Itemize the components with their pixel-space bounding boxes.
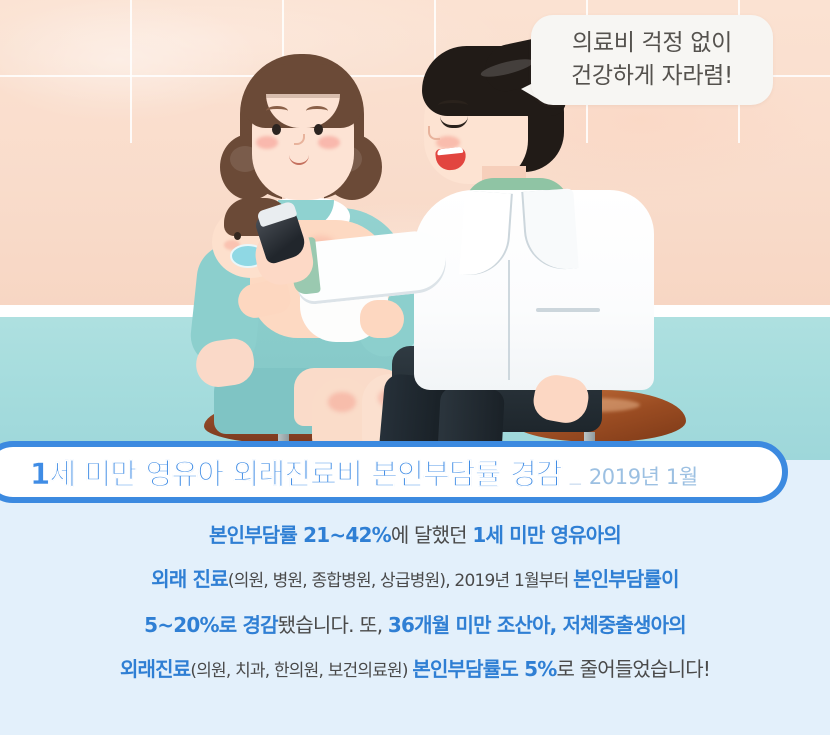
infographic-poster: 의료비 걱정 없이 건강하게 자라렴! 1세 미만 영유아 외래진료비 본인부담… xyxy=(0,0,830,735)
body-text-block: 본인부담률 21~42%에 달했던 1세 미만 영유아의 외래 진료(의원, 병… xyxy=(0,513,830,693)
speech-bubble: 의료비 걱정 없이 건강하게 자라렴! xyxy=(531,15,773,105)
mother-hair-front xyxy=(244,64,362,128)
title-date: 2019년 1월 xyxy=(589,461,698,491)
mother-kneecap-left xyxy=(328,392,356,412)
body-line-4-highlight-a: 외래진료 xyxy=(120,657,190,681)
body-line-2-highlight-a: 외래 진료 xyxy=(151,567,228,591)
baby-eye-left xyxy=(234,232,241,240)
title-banner-content: 1세 미만 영유아 외래진료비 본인부담률 경감 _ 2019년 1월 xyxy=(0,451,698,493)
body-line-1-plain-b: 에 달했던 xyxy=(391,523,473,547)
page-title: 1세 미만 영유아 외래진료비 본인부담률 경감 xyxy=(30,451,562,493)
doctor-coat-seam xyxy=(508,260,510,380)
doctor-nose xyxy=(428,126,440,140)
mother-eyebrow-left xyxy=(266,106,288,116)
body-line-2-plain-b: (의원, 병원, 종합병원, 상급병원), 2019년 1월부터 xyxy=(228,571,573,591)
body-line-4-plain-b: (의원, 치과, 한의원, 보건의료원) xyxy=(190,661,412,681)
body-line-1: 본인부담률 21~42%에 달했던 1세 미만 영유아의 xyxy=(0,513,830,557)
body-line-2: 외래 진료(의원, 병원, 종합병원, 상급병원), 2019년 1월부터 본인… xyxy=(0,557,830,603)
speech-line-1: 의료비 걱정 없이 xyxy=(572,30,732,57)
title-separator: _ xyxy=(570,465,581,488)
body-line-2-highlight-c: 본인부담률이 xyxy=(573,567,679,591)
body-line-3-highlight-c: 36개월 미만 조산아, 저체중출생아의 xyxy=(388,613,686,637)
body-line-1-highlight-c: 1세 미만 영유아의 xyxy=(472,523,621,547)
body-line-3-plain-b: 됐습니다. 또, xyxy=(278,613,388,637)
doctor-coat-pocket xyxy=(536,308,600,312)
mother-eyebrow-right xyxy=(306,106,328,116)
body-line-4-plain-d: 로 줄어들었습니다! xyxy=(556,657,710,681)
clinic-illustration: 의료비 걱정 없이 건강하게 자라렴! xyxy=(0,0,830,460)
mother-cheek-right xyxy=(318,136,340,149)
speech-line-2: 건강하게 자라렴! xyxy=(571,63,733,90)
doctor-eyebrow xyxy=(438,100,468,111)
body-line-3-highlight-a: 5~20%로 경감 xyxy=(144,613,278,637)
title-banner: 1세 미만 영유아 외래진료비 본인부담률 경감 _ 2019년 1월 xyxy=(0,441,788,503)
mother-cheek-left xyxy=(256,136,278,149)
body-line-4: 외래진료(의원, 치과, 한의원, 보건의료원) 본인부담률도 5%로 줄어들었… xyxy=(0,647,830,693)
body-line-1-highlight-a: 본인부담률 21~42% xyxy=(209,523,391,547)
speech-bubble-text: 의료비 걱정 없이 건강하게 자라렴! xyxy=(531,15,773,105)
body-line-3: 5~20%로 경감됐습니다. 또, 36개월 미만 조산아, 저체중출생아의 xyxy=(0,603,830,647)
mother-eye-right xyxy=(314,124,323,135)
body-line-4-highlight-c: 본인부담률도 5% xyxy=(412,657,556,681)
mother-eye-left xyxy=(272,124,281,135)
